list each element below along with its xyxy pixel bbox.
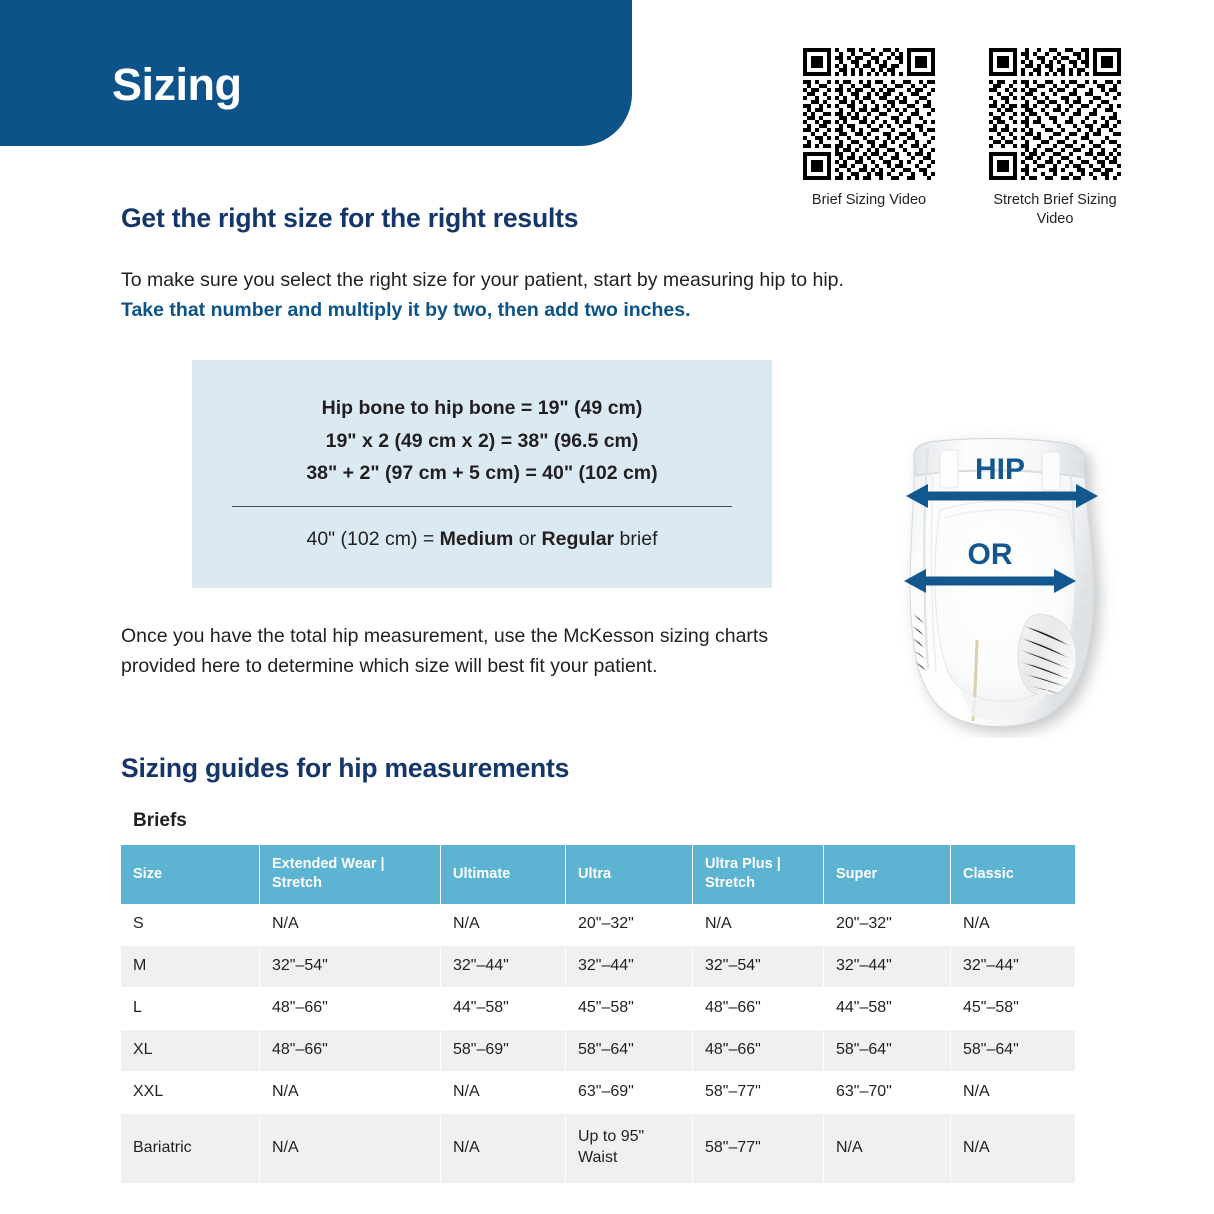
table-row: L 48"–66" 44"–58" 45"–58" 48"–66" 44"–58… (121, 988, 1075, 1030)
qr-code-icon[interactable] (803, 48, 935, 180)
column-header-ultra-plus-stretch: Ultra Plus | Stretch (693, 845, 823, 904)
cell-super: 20"–32" (824, 904, 950, 946)
qr-code-group: Brief Sizing Video (790, 48, 1190, 229)
result-size-regular: Regular (542, 528, 615, 550)
column-header-extended-wear-stretch: Extended Wear | Stretch (260, 845, 440, 904)
cell-ultra: 63"–69" (566, 1072, 692, 1114)
table-row: Bariatric N/A N/A Up to 95" Waist 58"–77… (121, 1114, 1075, 1184)
cell-size: Bariatric (121, 1114, 259, 1184)
intro-paragraph-emphasis: Take that number and multiply it by two,… (121, 299, 691, 321)
cell-ultimate: 32"–44" (441, 946, 565, 988)
cell-size: L (121, 988, 259, 1030)
cell-classic: N/A (951, 904, 1075, 946)
cell-ultra-plus: 58"–77" (693, 1072, 823, 1114)
cell-ultimate: N/A (441, 1114, 565, 1184)
sizing-table-briefs: Size Extended Wear | Stretch Ultimate Ul… (120, 845, 1076, 1184)
header-banner: Sizing (0, 0, 632, 146)
cell-extended: 32"–54" (260, 946, 440, 988)
table-header-row: Size Extended Wear | Stretch Ultimate Ul… (121, 845, 1075, 904)
cell-super: 58"–64" (824, 1030, 950, 1072)
cell-extended: 48"–66" (260, 1030, 440, 1072)
calculation-line-2: 19" x 2 (49 cm x 2) = 38" (96.5 cm) (192, 425, 772, 458)
column-header-classic: Classic (951, 845, 1075, 904)
qr-block-stretch-brief-sizing-video[interactable]: Stretch Brief Sizing Video (976, 48, 1134, 229)
column-header-ultra: Ultra (566, 845, 692, 904)
cell-ultra: 32"–44" (566, 946, 692, 988)
result-prefix: 40" (102 cm) = (306, 528, 439, 550)
cell-classic: N/A (951, 1072, 1075, 1114)
intro-paragraph: To make sure you select the right size f… (121, 266, 881, 325)
cell-ultra-plus: 32"–54" (693, 946, 823, 988)
qr-block-brief-sizing-video[interactable]: Brief Sizing Video (790, 48, 948, 229)
hip-label: HIP (975, 453, 1025, 486)
cell-extended: N/A (260, 904, 440, 946)
callout-divider (232, 506, 732, 508)
cell-size: M (121, 946, 259, 988)
cell-ultra-plus: 48"–66" (693, 988, 823, 1030)
table-row: M 32"–54" 32"–44" 32"–44" 32"–54" 32"–44… (121, 946, 1075, 988)
result-size-medium: Medium (440, 528, 514, 550)
calculation-line-1: Hip bone to hip bone = 19" (49 cm) (192, 392, 772, 425)
table-row: S N/A N/A 20"–32" N/A 20"–32" N/A (121, 904, 1075, 946)
cell-ultimate: N/A (441, 1072, 565, 1114)
cell-extended: N/A (260, 1114, 440, 1184)
section-heading-get-right-size: Get the right size for the right results (121, 203, 578, 234)
result-suffix: brief (614, 528, 657, 550)
cell-super: 32"–44" (824, 946, 950, 988)
calculation-callout-box: Hip bone to hip bone = 19" (49 cm) 19" x… (192, 360, 772, 588)
cell-ultra-plus: 58"–77" (693, 1114, 823, 1184)
cell-extended: N/A (260, 1072, 440, 1114)
column-header-size: Size (121, 845, 259, 904)
cell-ultra-plus: 48"–66" (693, 1030, 823, 1072)
product-illustration-brief: HIP OR (872, 418, 1132, 738)
column-header-ultimate: Ultimate (441, 845, 565, 904)
table-row: XXL N/A N/A 63"–69" 58"–77" 63"–70" N/A (121, 1072, 1075, 1114)
result-conjunction: or (513, 528, 541, 550)
cell-classic: N/A (951, 1114, 1075, 1184)
calculation-line-3: 38" + 2" (97 cm + 5 cm) = 40" (102 cm) (192, 457, 772, 490)
cell-ultimate: N/A (441, 904, 565, 946)
cell-classic: 45"–58" (951, 988, 1075, 1030)
or-label: OR (968, 538, 1013, 571)
qr-code-icon[interactable] (989, 48, 1121, 180)
cell-ultimate: 44"–58" (441, 988, 565, 1030)
qr-caption: Brief Sizing Video (812, 191, 926, 210)
cell-extended: 48"–66" (260, 988, 440, 1030)
cell-ultimate: 58"–69" (441, 1030, 565, 1072)
section-heading-sizing-guides: Sizing guides for hip measurements (121, 753, 569, 784)
cell-ultra: 20"–32" (566, 904, 692, 946)
cell-super: 63"–70" (824, 1072, 950, 1114)
cell-super: N/A (824, 1114, 950, 1184)
cell-classic: 58"–64" (951, 1030, 1075, 1072)
table-label-briefs: Briefs (133, 810, 187, 832)
cell-classic: 32"–44" (951, 946, 1075, 988)
cell-super: 44"–58" (824, 988, 950, 1030)
cell-ultra-plus: N/A (693, 904, 823, 946)
intro-paragraph-plain: To make sure you select the right size f… (121, 269, 844, 291)
page-title: Sizing (112, 62, 242, 107)
column-header-super: Super (824, 845, 950, 904)
calculation-result: 40" (102 cm) = Medium or Regular brief (192, 528, 772, 551)
cell-ultra: 45"–58" (566, 988, 692, 1030)
cell-size: S (121, 904, 259, 946)
cell-ultra: 58"–64" (566, 1030, 692, 1072)
table-row: XL 48"–66" 58"–69" 58"–64" 48"–66" 58"–6… (121, 1030, 1075, 1072)
qr-caption: Stretch Brief Sizing Video (976, 191, 1134, 229)
cell-size: XXL (121, 1072, 259, 1114)
cell-ultra: Up to 95" Waist (566, 1114, 692, 1184)
post-paragraph: Once you have the total hip measurement,… (121, 622, 821, 681)
cell-size: XL (121, 1030, 259, 1072)
